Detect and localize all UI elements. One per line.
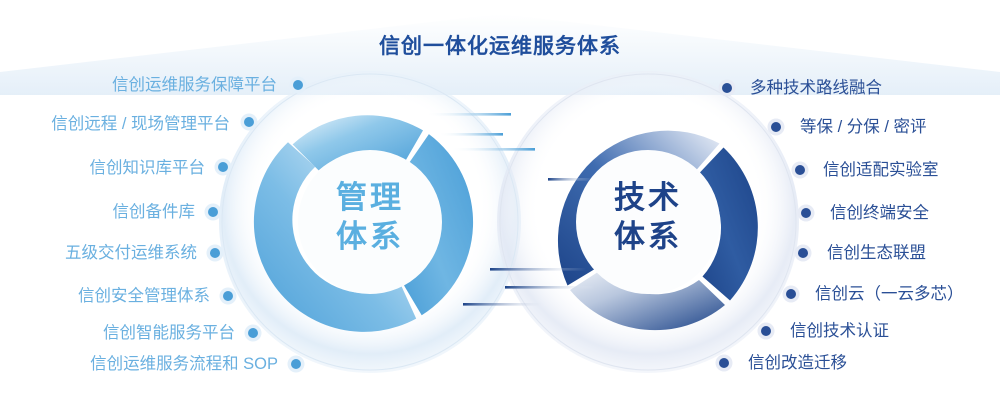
right-label-8: 信创改造迁移 (748, 355, 847, 372)
left-ring-center-text: 管理 体系 (290, 178, 450, 257)
left-ring-center-line2: 体系 (290, 217, 450, 256)
left-label-8: 信创运维服务流程和 SOP (90, 356, 278, 373)
right-label-4: 信创终端安全 (830, 205, 929, 222)
infographic-canvas: 信创一体化运维服务体系 信创运维服务保障平台 信创远程 / 现场管理平台 信创知… (0, 0, 1000, 408)
left-label-2: 信创远程 / 现场管理平台 (51, 116, 230, 133)
left-label-6: 信创安全管理体系 (78, 288, 210, 305)
right-label-2: 等保 / 分保 / 密评 (800, 119, 927, 136)
right-ring-center-line1: 技术 (568, 178, 728, 217)
right-label-3: 信创适配实验室 (823, 162, 939, 179)
right-ring-center-text: 技术 体系 (568, 178, 728, 257)
right-label-6: 信创云（一云多芯） (815, 286, 964, 303)
right-ring-center-line2: 体系 (568, 217, 728, 256)
left-label-3: 信创知识库平台 (90, 160, 206, 177)
left-ring-center-line1: 管理 (290, 178, 450, 217)
left-label-7: 信创智能服务平台 (103, 325, 235, 342)
page-title: 信创一体化运维服务体系 (0, 30, 1000, 60)
right-label-5: 信创生态联盟 (827, 245, 926, 262)
left-label-5: 五级交付运维系统 (65, 245, 197, 262)
left-label-1: 信创运维服务保障平台 (112, 77, 277, 94)
left-label-4: 信创备件库 (113, 204, 196, 221)
right-label-7: 信创技术认证 (790, 323, 889, 340)
right-label-1: 多种技术路线融合 (750, 80, 882, 97)
